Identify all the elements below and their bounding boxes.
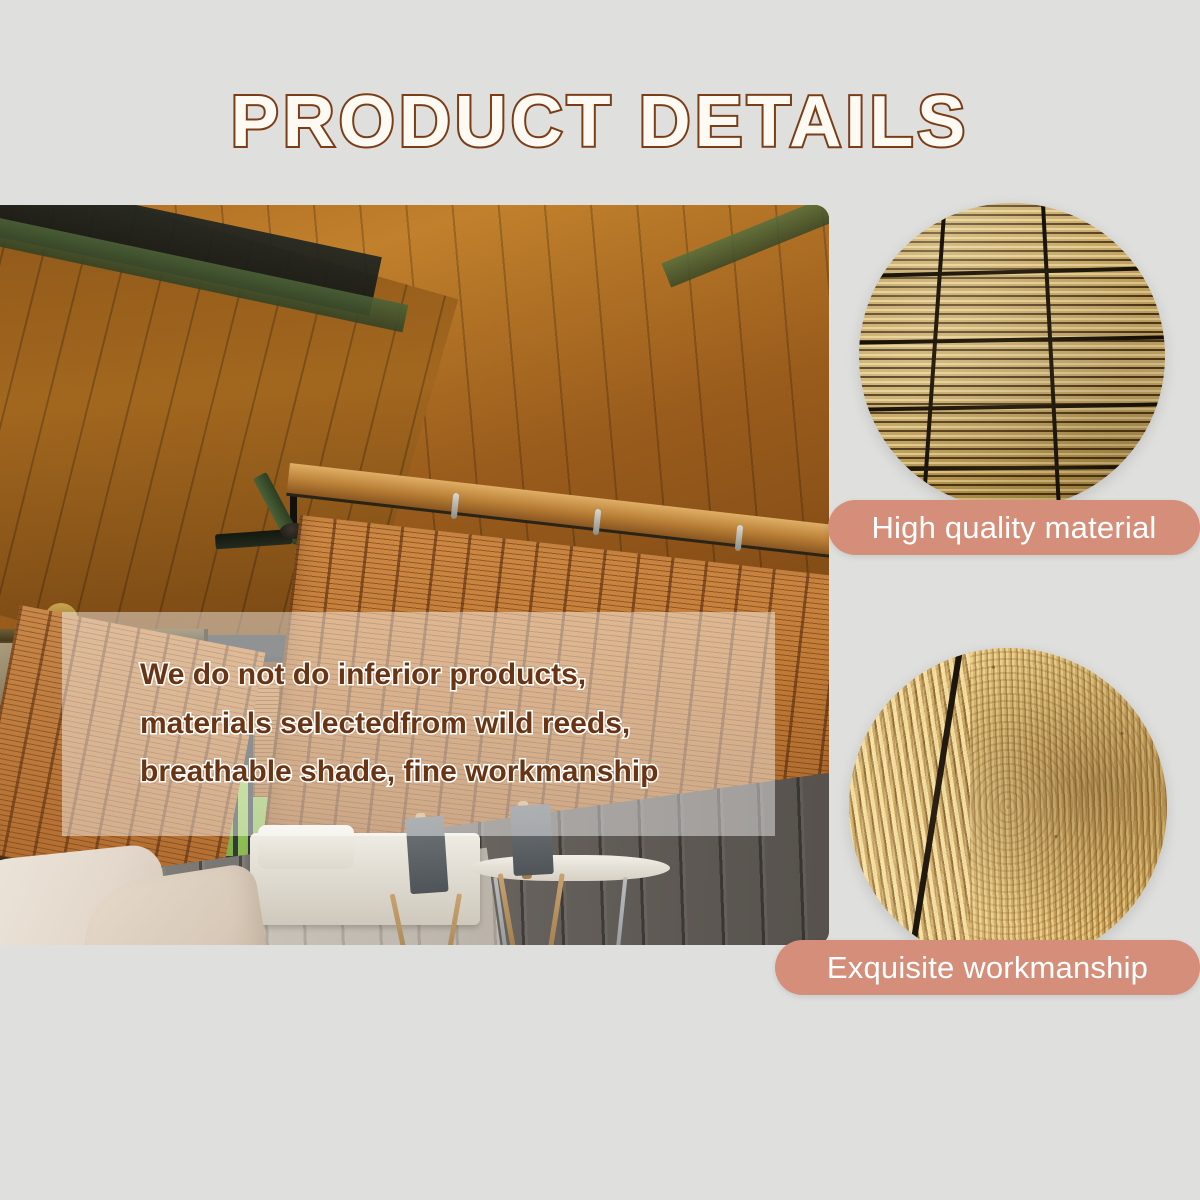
foreground-sofa [0, 845, 430, 945]
feature-image-high-quality-material [859, 203, 1165, 509]
badge-high-quality-material: High quality material [828, 500, 1200, 555]
page-title: PRODUCT DETAILS [0, 86, 1200, 158]
ceiling-fan [272, 523, 274, 525]
overlay-text-block: We do not do inferior products, material… [62, 612, 775, 836]
badge-exquisite-workmanship: Exquisite workmanship [775, 940, 1200, 995]
overlay-line-3: breathable shade, fine workmanship [140, 752, 775, 793]
feature-image-exquisite-workmanship [849, 648, 1167, 966]
reed-slat-texture [859, 203, 1165, 509]
overlay-line-1: We do not do inferior products, [140, 655, 775, 696]
overlay-line-2: materials selectedfrom wild reeds, [140, 704, 775, 745]
